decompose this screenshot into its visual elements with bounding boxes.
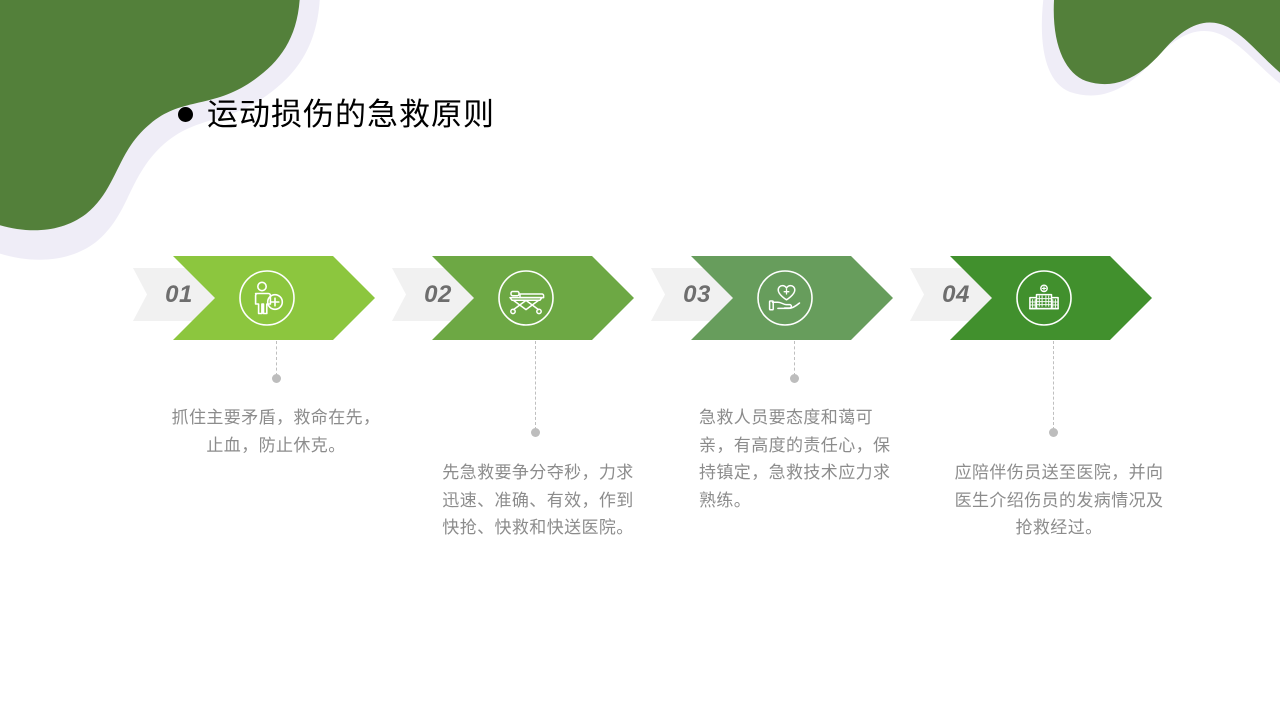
step-connector-02 [535, 341, 536, 430]
step-number-01: 01 [157, 281, 193, 309]
step-caption-02: 先急救要争分夺秒，力求迅速、准确、有效，作到快抢、快救和快送医院。 [442, 459, 634, 542]
process-steps: 01 抓住主要矛盾，救命在先，止血，防止休克。 02 [0, 0, 1280, 720]
process-step-04[interactable]: 04 [910, 0, 1170, 720]
step-number-02: 02 [416, 281, 452, 309]
step-connector-04 [1053, 341, 1054, 430]
step-number-04: 04 [934, 281, 970, 309]
step-caption-01: 抓住主要矛盾，救命在先，止血，防止休克。 [171, 404, 381, 459]
step-connector-dot-04 [1049, 428, 1058, 437]
step-connector-dot-01 [272, 374, 281, 383]
step-caption-04: 应陪伴伤员送至医院，并向医生介绍伤员的发病情况及抢救经过。 [950, 459, 1168, 542]
hospital-building-icon [1014, 268, 1074, 328]
step-number-03: 03 [675, 281, 711, 309]
process-step-02[interactable]: 02 先急救要争分夺秒，力求迅速、准确、有效，作到快抢、快救和快送医院。 [392, 0, 652, 720]
step-connector-dot-03 [790, 374, 799, 383]
process-step-01[interactable]: 01 抓住主要矛盾，救命在先，止血，防止休克。 [133, 0, 393, 720]
slide-canvas: 运动损伤的急救原则 01 抓住主要矛盾，救命在先，止血，防止休克。 [0, 0, 1280, 720]
process-step-03[interactable]: 03 急救人员要态度和蔼可亲，有高度的责任心，保持镇定，急救技术应力求熟练。 [651, 0, 911, 720]
step-connector-03 [794, 341, 795, 376]
step-connector-01 [276, 341, 277, 376]
injured-person-first-aid-icon [237, 268, 297, 328]
step-caption-03: 急救人员要态度和蔼可亲，有高度的责任心，保持镇定，急救技术应力求熟练。 [699, 404, 891, 514]
step-connector-dot-02 [531, 428, 540, 437]
hand-holding-heart-cross-icon [755, 268, 815, 328]
stretcher-gurney-icon [496, 268, 556, 328]
